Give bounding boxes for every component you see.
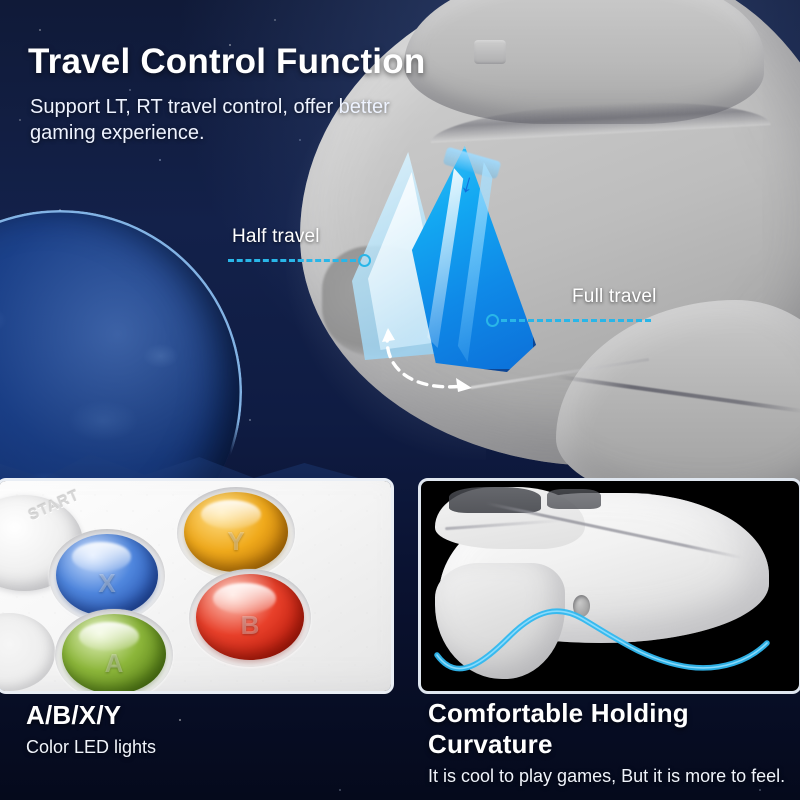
page-subtitle: Support LT, RT travel control, offer bet… xyxy=(30,95,390,146)
curvature-caption-title: Comfortable Holding Curvature xyxy=(428,698,788,760)
b-button[interactable]: B xyxy=(196,574,304,660)
half-travel-leader xyxy=(228,253,371,267)
product-feature-graphic: ↓ Half travel Full travel Travel Control… xyxy=(0,0,800,800)
y-button-label: Y xyxy=(184,526,288,557)
full-travel-marker-icon xyxy=(486,314,499,327)
full-travel-leader xyxy=(486,313,657,327)
abxy-caption-subtitle: Color LED lights xyxy=(26,736,396,759)
rotation-arc-icon xyxy=(378,326,498,400)
abxy-panel: START Y X B A xyxy=(0,478,394,694)
curvature-highlight-icon xyxy=(431,487,779,687)
abxy-caption: A/B/X/Y Color LED lights xyxy=(26,700,396,759)
abxy-caption-title: A/B/X/Y xyxy=(26,700,396,731)
a-button[interactable]: A xyxy=(62,614,166,694)
half-travel-label: Half travel xyxy=(232,226,371,248)
a-button-label: A xyxy=(62,648,166,679)
page-title: Travel Control Function xyxy=(28,42,425,82)
half-travel-dash xyxy=(228,259,356,262)
y-button[interactable]: Y xyxy=(184,492,288,572)
callout-half-travel: Half travel xyxy=(228,226,371,267)
holding-curvature-panel xyxy=(418,478,800,694)
controller-grip-photo xyxy=(431,487,779,687)
curvature-caption: Comfortable Holding Curvature It is cool… xyxy=(428,698,788,788)
half-travel-marker-icon xyxy=(358,254,371,267)
bumper-emboss-icon xyxy=(474,40,506,64)
x-button-label: X xyxy=(56,568,158,599)
b-button-label: B xyxy=(196,610,304,641)
full-travel-dash xyxy=(501,319,651,322)
callout-full-travel: Full travel xyxy=(486,286,657,327)
curvature-caption-subtitle: It is cool to play games, But it is more… xyxy=(428,765,788,788)
full-travel-label: Full travel xyxy=(572,286,657,308)
x-button[interactable]: X xyxy=(56,534,158,616)
